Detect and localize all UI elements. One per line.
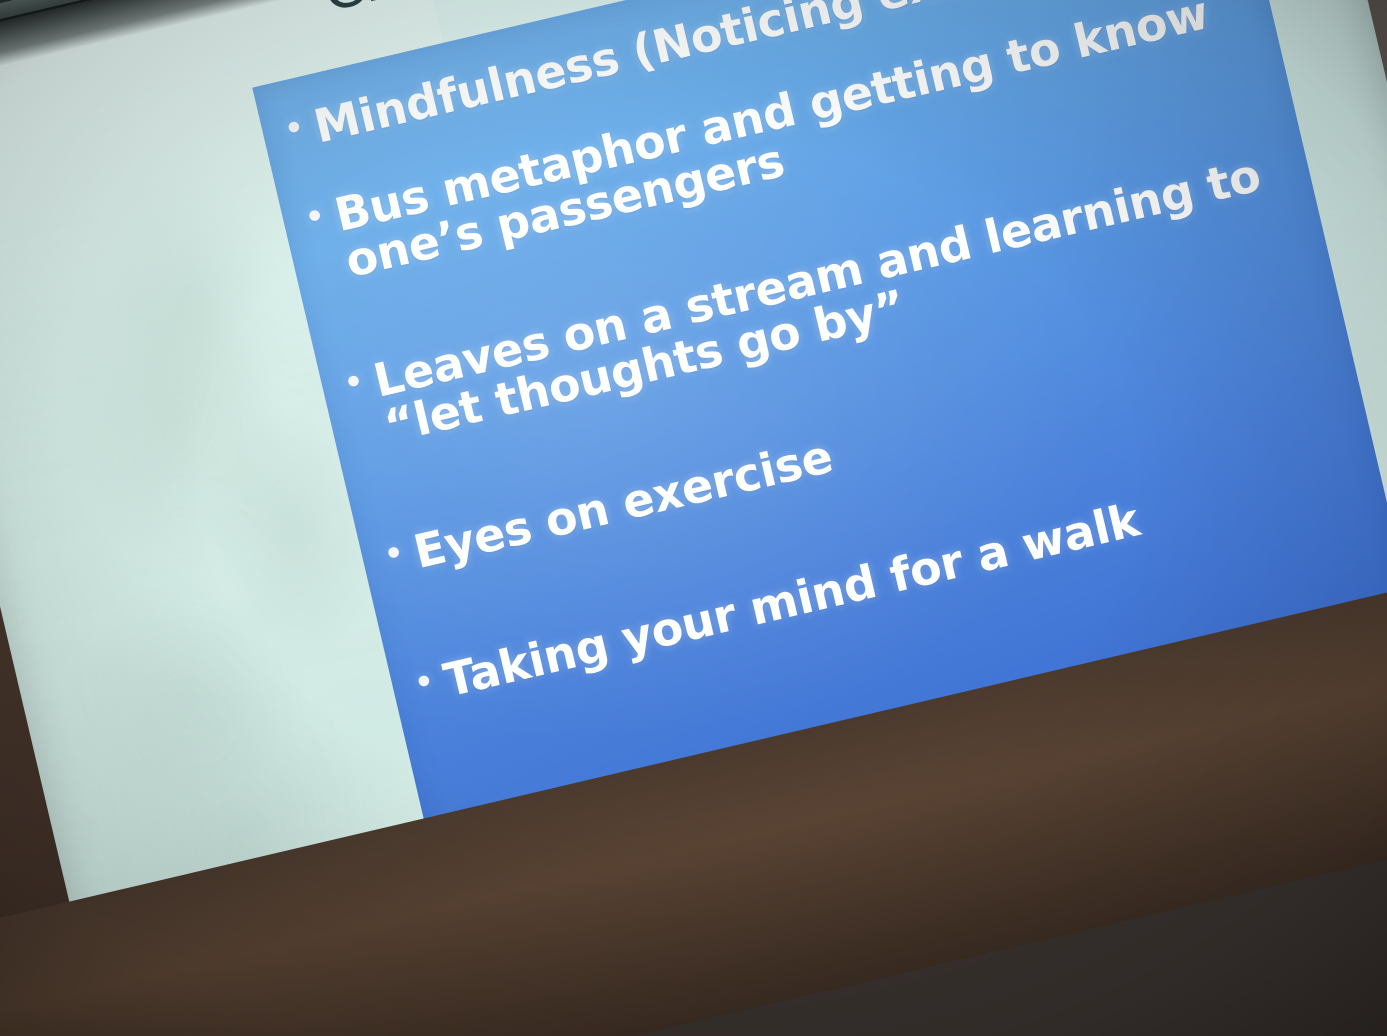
bullet-list: • Mindfulness (Noticing exercises) • Bus…	[280, 0, 1366, 712]
photo-of-projected-slide: Class Evaluations: Most Impactful • Mind…	[0, 0, 1387, 1036]
